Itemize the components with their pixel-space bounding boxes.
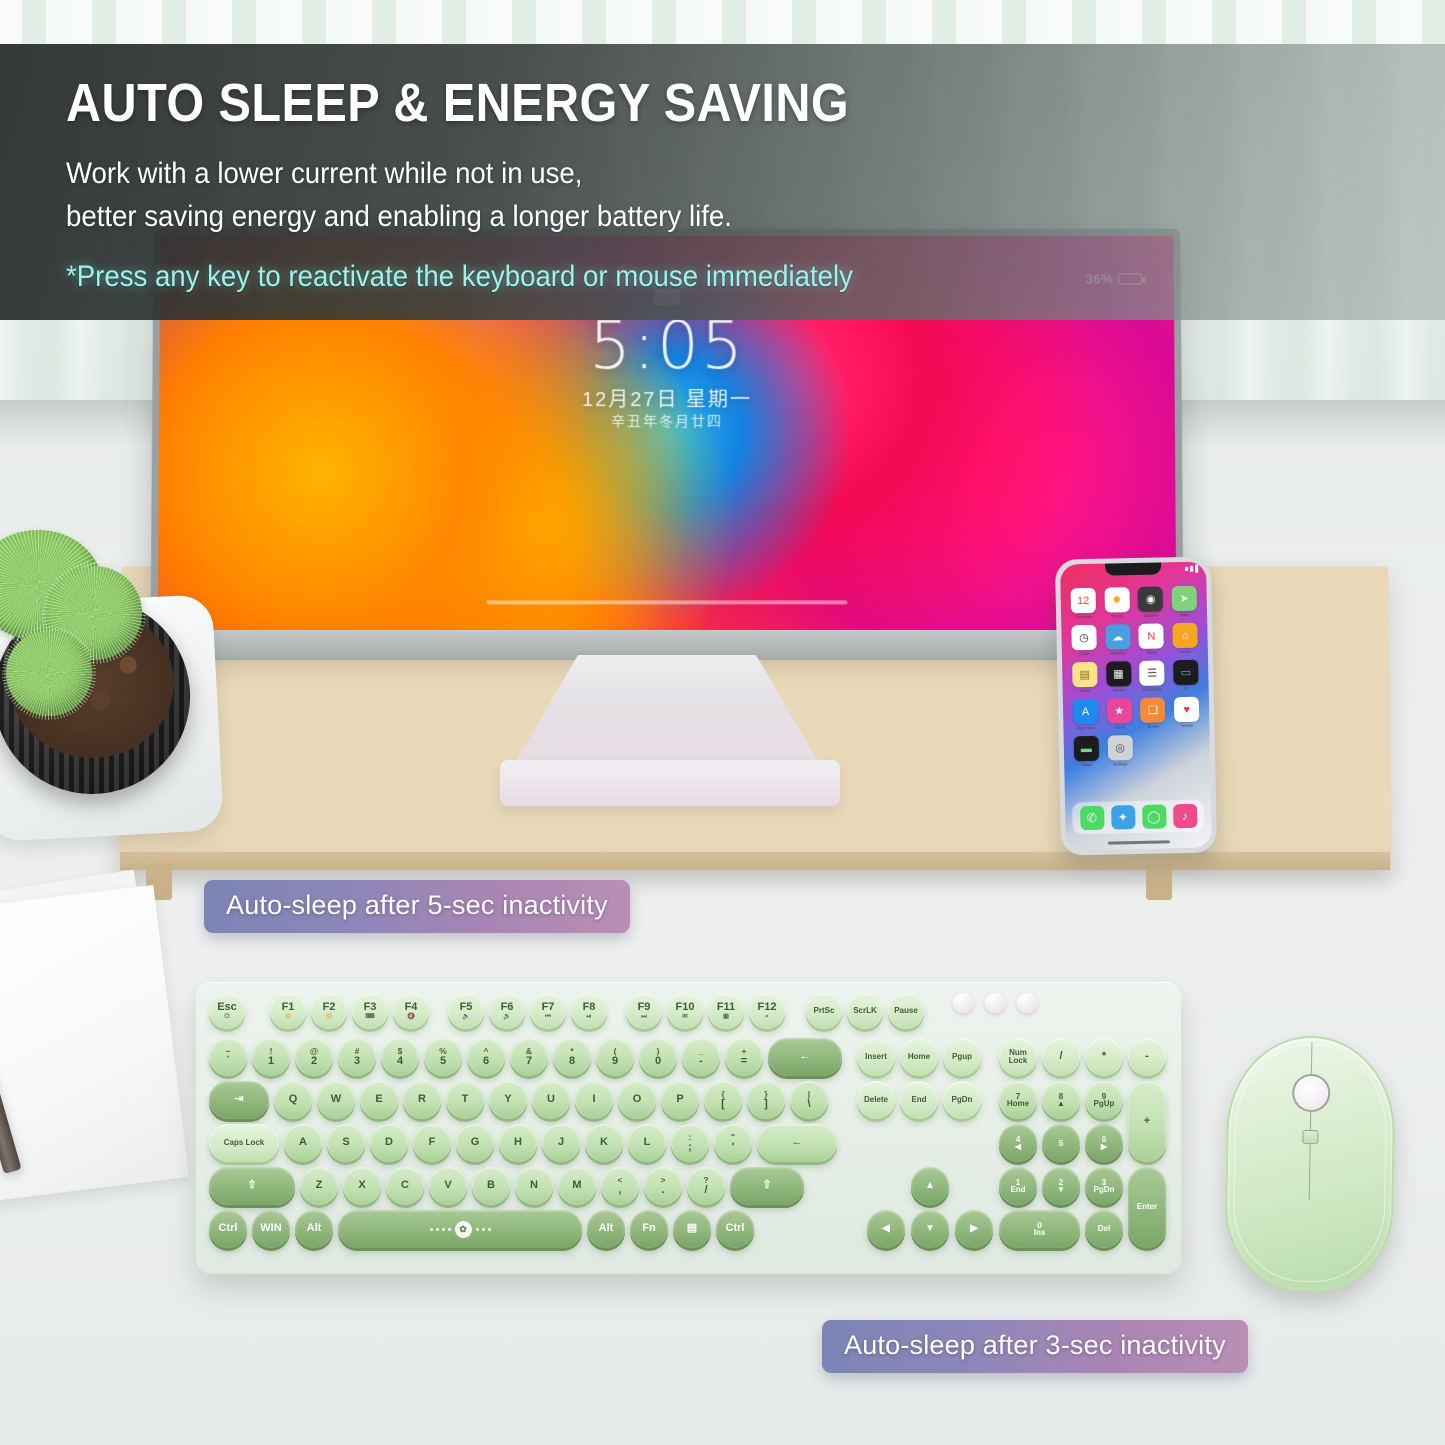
- cactus-ball-small: [6, 630, 92, 716]
- photos-icon[interactable]: ✹: [1104, 587, 1130, 613]
- phone-app-app-store[interactable]: AApp Store: [1072, 699, 1099, 731]
- key-f[interactable]: F: [413, 1124, 451, 1162]
- key-d[interactable]: D: [370, 1124, 408, 1162]
- brand-logo-icon: ✿: [455, 1221, 472, 1238]
- key-f7[interactable]: F7⏮: [530, 993, 566, 1029]
- app-store-icon[interactable]: A: [1073, 699, 1099, 725]
- page-title: AUTO SLEEP & ENERGY SAVING: [66, 72, 1307, 134]
- wallet-icon[interactable]: ▬: [1073, 736, 1099, 762]
- phone-app-itunes[interactable]: ★iTunes: [1106, 698, 1133, 730]
- key-pause[interactable]: Pause: [888, 993, 924, 1029]
- key-arrow-right[interactable]: ▶: [955, 1210, 993, 1248]
- monitor-stand-base: [500, 760, 840, 806]
- weather-icon[interactable]: ☁: [1105, 624, 1131, 650]
- key-x[interactable]: X: [343, 1167, 381, 1205]
- phone-app-calendar[interactable]: 12Calendar: [1070, 588, 1097, 620]
- calendar-icon[interactable]: 12: [1070, 588, 1096, 614]
- tv-icon[interactable]: ▭: [1173, 660, 1199, 686]
- key-f2[interactable]: F2🔆: [311, 993, 347, 1029]
- clock-icon[interactable]: ◷: [1071, 625, 1097, 651]
- key-num-lock[interactable]: Num Lock: [999, 1038, 1037, 1076]
- scroll-lock-led: [1017, 993, 1037, 1013]
- stocks-icon[interactable]: ▦: [1106, 661, 1132, 687]
- key-0[interactable]: )0: [639, 1038, 677, 1076]
- phone-app-tv[interactable]: ▭TV: [1172, 660, 1199, 692]
- key-a[interactable]: A: [284, 1124, 322, 1162]
- key-end[interactable]: End: [900, 1081, 938, 1119]
- riser-front-edge: [120, 852, 1390, 870]
- key-h[interactable]: H: [499, 1124, 537, 1162]
- key-sym[interactable]: /: [1042, 1038, 1080, 1076]
- key-sym[interactable]: 2▼: [1042, 1167, 1080, 1205]
- phone-app-photos[interactable]: ✹Photos: [1103, 587, 1130, 619]
- key-3[interactable]: #3: [338, 1038, 376, 1076]
- key-j[interactable]: J: [542, 1124, 580, 1162]
- key-6[interactable]: ^6: [467, 1038, 505, 1076]
- key-v[interactable]: V: [429, 1167, 467, 1205]
- phone-app-stocks[interactable]: ▦Stocks: [1105, 661, 1132, 693]
- keyboard-number-row[interactable]: ~`!1@2#3$4%5^6&7*8(9)0_-+=←: [209, 1038, 847, 1076]
- phone-app-home[interactable]: ⌂Home: [1172, 623, 1199, 655]
- key-2[interactable]: @2: [295, 1038, 333, 1076]
- books-icon[interactable]: ❏: [1140, 697, 1166, 723]
- key-w[interactable]: W: [317, 1081, 355, 1119]
- lockscreen-date: 12月27日 星期一: [159, 383, 1175, 412]
- key-home[interactable]: 7Home: [999, 1081, 1037, 1119]
- key-scrlk[interactable]: ScrLK: [847, 993, 883, 1029]
- key-alt[interactable]: Alt: [587, 1210, 625, 1248]
- key-f1[interactable]: F1🔅: [270, 993, 306, 1029]
- mouse-scroll-wheel[interactable]: [1292, 1074, 1331, 1113]
- phone-dock-phone-icon[interactable]: ✆: [1080, 806, 1104, 830]
- key-sym[interactable]: |\: [790, 1081, 828, 1119]
- phone-app-weather[interactable]: ☁Weather: [1104, 624, 1131, 656]
- key-esc[interactable]: Esc⏻: [209, 993, 245, 1029]
- key-pgup[interactable]: 9PgUp: [1085, 1081, 1123, 1119]
- num-lock-led: [953, 993, 973, 1013]
- mouse-lower-divider: [1309, 1144, 1311, 1200]
- product-marketing-image: 36% 5:05 12月27日 星期一 辛丑年冬月廿四 12Calendar✹P…: [0, 0, 1445, 1445]
- key-sym[interactable]: "': [714, 1124, 752, 1162]
- key-sym[interactable]: 8▲: [1042, 1081, 1080, 1119]
- key-u[interactable]: U: [532, 1081, 570, 1119]
- key-f8[interactable]: F8⏯: [571, 993, 607, 1029]
- key-n[interactable]: N: [515, 1167, 553, 1205]
- key-sym[interactable]: +: [1128, 1081, 1166, 1162]
- keyboard-home-row[interactable]: Caps LockASDFGHJKL:;"'←: [209, 1124, 842, 1162]
- key-t[interactable]: T: [446, 1081, 484, 1119]
- key-arrow-down[interactable]: ▼: [911, 1210, 949, 1248]
- key-5[interactable]: 5: [1042, 1124, 1080, 1162]
- news-icon[interactable]: N: [1139, 623, 1165, 649]
- key-f11[interactable]: F11▣: [708, 993, 744, 1029]
- phone-app-clock[interactable]: ◷Clock: [1070, 625, 1097, 657]
- mouse-dpi-button[interactable]: [1302, 1130, 1318, 1144]
- phone-app-wallet[interactable]: ▬Wallet: [1073, 736, 1100, 768]
- key-q[interactable]: Q: [274, 1081, 312, 1119]
- key--[interactable]: -: [1128, 1038, 1166, 1076]
- phone-home-indicator: [1108, 840, 1170, 844]
- key-space[interactable]: ✿: [338, 1210, 582, 1248]
- lockscreen-slider: [487, 600, 848, 604]
- riser-leg-right: [1146, 864, 1172, 900]
- headline-banner: AUTO SLEEP & ENERGY SAVING Work with a l…: [0, 44, 1445, 320]
- key-insert[interactable]: Insert: [857, 1038, 895, 1076]
- phone-app-news[interactable]: NNews: [1138, 623, 1165, 655]
- top-decor-strip: [0, 0, 1445, 44]
- key-f12[interactable]: F12⌕: [749, 993, 785, 1029]
- key-pgdn[interactable]: PgDn: [943, 1081, 981, 1119]
- key-9[interactable]: (9: [596, 1038, 634, 1076]
- keyboard-autosleep-badge: Auto-sleep after 5-sec inactivity: [204, 880, 630, 933]
- key-sym[interactable]: ~`: [209, 1038, 247, 1076]
- phone-notch: [1105, 562, 1161, 575]
- key-m[interactable]: M: [558, 1167, 596, 1205]
- key-f6[interactable]: F6🔊: [489, 993, 525, 1029]
- key-sym[interactable]: ▤: [673, 1210, 711, 1248]
- key-o[interactable]: O: [618, 1081, 656, 1119]
- key-k[interactable]: K: [585, 1124, 623, 1162]
- phone-dock: ✆✦◯♪: [1072, 800, 1205, 835]
- key-c[interactable]: C: [386, 1167, 424, 1205]
- reminders-icon[interactable]: ☰: [1139, 660, 1165, 686]
- key-sym[interactable]: +=: [725, 1038, 763, 1076]
- key-prtsc[interactable]: PrtSc: [806, 993, 842, 1029]
- key-sym[interactable]: }]: [747, 1081, 785, 1119]
- phone-app-notes[interactable]: ▤Notes: [1071, 662, 1098, 694]
- key-arrow-up[interactable]: ▲: [911, 1167, 949, 1205]
- key-s[interactable]: S: [327, 1124, 365, 1162]
- settings-icon[interactable]: ◎: [1107, 735, 1133, 761]
- key-ctrl[interactable]: Ctrl: [209, 1210, 247, 1248]
- health-icon[interactable]: ♥: [1174, 697, 1200, 723]
- phone-app-health[interactable]: ♥Health: [1173, 697, 1200, 729]
- keyboard-qwerty-row[interactable]: ⇥QWERTYUIOP{[}]|\: [209, 1081, 833, 1119]
- phone-app-maps[interactable]: ➤Maps: [1171, 586, 1198, 618]
- key-pgdn[interactable]: 3PgDn: [1085, 1167, 1123, 1205]
- phone-status-bar: [1185, 565, 1198, 573]
- key-sym[interactable]: :;: [671, 1124, 709, 1162]
- key-sym[interactable]: ⇧: [209, 1167, 295, 1205]
- key-sym[interactable]: ?/: [687, 1167, 725, 1205]
- key-p[interactable]: P: [661, 1081, 699, 1119]
- key-7[interactable]: &7: [510, 1038, 548, 1076]
- key-pgup[interactable]: Pgup: [943, 1038, 981, 1076]
- mouse-autosleep-badge: Auto-sleep after 3-sec inactivity: [822, 1320, 1248, 1373]
- key-f4[interactable]: F4🔇: [393, 993, 429, 1029]
- phone-app-books[interactable]: ❏Books: [1139, 697, 1166, 729]
- notes-icon[interactable]: ▤: [1072, 662, 1098, 688]
- key-b[interactable]: B: [472, 1167, 510, 1205]
- key-sym[interactable]: *: [1085, 1038, 1123, 1076]
- key-sym[interactable]: 4◀: [999, 1124, 1037, 1162]
- key-sym[interactable]: ⇧: [730, 1167, 804, 1205]
- wireless-keyboard[interactable]: Esc⏻F1🔅F2🔆F3⌨F4🔇F5🔉F6🔊F7⏮F8⏯F9⏭F10✉F11▣F…: [196, 982, 1181, 1274]
- key-arrow-left[interactable]: ◀: [867, 1210, 905, 1248]
- phone-app-settings[interactable]: ◎Settings: [1106, 735, 1133, 767]
- key-i[interactable]: I: [575, 1081, 613, 1119]
- key-4[interactable]: $4: [381, 1038, 419, 1076]
- key-f9[interactable]: F9⏭: [626, 993, 662, 1029]
- keyboard-nav-cluster-bottom[interactable]: DeleteEndPgDn: [857, 1081, 986, 1119]
- key-fn[interactable]: Fn: [630, 1210, 668, 1248]
- key-r[interactable]: R: [403, 1081, 441, 1119]
- phone-app-reminders[interactable]: ☰Reminders: [1139, 660, 1166, 692]
- key-caps-lock[interactable]: Caps Lock: [209, 1124, 279, 1162]
- subtitle-line-2: better saving energy and enabling a long…: [66, 197, 1335, 238]
- reactivate-note: *Press any key to reactivate the keyboar…: [66, 260, 1335, 294]
- lockscreen-lunar-date: 辛丑年冬月廿四: [159, 411, 1175, 431]
- key-alt[interactable]: Alt: [295, 1210, 333, 1248]
- key--[interactable]: _-: [682, 1038, 720, 1076]
- keyboard-shift-row[interactable]: ⇧ZXCVBNM<,>.?/⇧: [209, 1167, 809, 1205]
- key-e[interactable]: E: [360, 1081, 398, 1119]
- keyboard-numpad[interactable]: Num Lock/*-7Home8▲9PgUp+4◀56▶1End2▼3PgDn…: [999, 1038, 1179, 1258]
- maps-icon[interactable]: ➤: [1172, 586, 1198, 612]
- camera-icon[interactable]: ◉: [1138, 586, 1164, 612]
- key-sym[interactable]: ⇥: [209, 1081, 269, 1119]
- subtitle-line-1: Work with a lower current while not in u…: [66, 154, 1335, 195]
- key-z[interactable]: Z: [300, 1167, 338, 1205]
- keyboard-arrow-cluster[interactable]: ▲◀▼▶: [867, 1167, 999, 1255]
- phone-dock-messages-icon[interactable]: ◯: [1142, 804, 1166, 828]
- key-y[interactable]: Y: [489, 1081, 527, 1119]
- key-end[interactable]: 1End: [999, 1167, 1037, 1205]
- key-sym[interactable]: 6▶: [1085, 1124, 1123, 1162]
- phone-app-grid: 12Calendar✹Photos◉Camera➤Maps◷Clock☁Weat…: [1070, 586, 1202, 768]
- key-sym[interactable]: >.: [644, 1167, 682, 1205]
- key-del[interactable]: Del: [1085, 1210, 1123, 1248]
- key-5[interactable]: %5: [424, 1038, 462, 1076]
- key-win[interactable]: WIN: [252, 1210, 290, 1248]
- itunes-icon[interactable]: ★: [1106, 698, 1132, 724]
- phone-screen: 12Calendar✹Photos◉Camera➤Maps◷Clock☁Weat…: [1060, 562, 1212, 851]
- smartphone: 12Calendar✹Photos◉Camera➤Maps◷Clock☁Weat…: [1055, 556, 1217, 855]
- key-ins[interactable]: 0Ins: [999, 1210, 1080, 1248]
- key-sym[interactable]: <,: [601, 1167, 639, 1205]
- key-g[interactable]: G: [456, 1124, 494, 1162]
- home-icon[interactable]: ⌂: [1172, 623, 1198, 649]
- key-enter[interactable]: Enter: [1128, 1167, 1166, 1248]
- phone-app-camera[interactable]: ◉Camera: [1137, 586, 1164, 618]
- key-f5[interactable]: F5🔉: [448, 993, 484, 1029]
- key-f10[interactable]: F10✉: [667, 993, 703, 1029]
- key-8[interactable]: *8: [553, 1038, 591, 1076]
- caps-lock-led: [985, 993, 1005, 1013]
- key-l[interactable]: L: [628, 1124, 666, 1162]
- keyboard-bottom-row[interactable]: CtrlWINAlt✿AltFn▤Ctrl: [209, 1210, 759, 1248]
- key-sym[interactable]: ←: [768, 1038, 842, 1076]
- key-delete[interactable]: Delete: [857, 1081, 895, 1119]
- wireless-mouse[interactable]: [1224, 1035, 1396, 1294]
- key-f3[interactable]: F3⌨: [352, 993, 388, 1029]
- keyboard-nav-cluster-top[interactable]: InsertHomePgup: [857, 1038, 986, 1076]
- key-home[interactable]: Home: [900, 1038, 938, 1076]
- key-ctrl[interactable]: Ctrl: [716, 1210, 754, 1248]
- key-sym[interactable]: ←: [757, 1124, 837, 1162]
- phone-dock-music-icon[interactable]: ♪: [1173, 804, 1197, 828]
- key-1[interactable]: !1: [252, 1038, 290, 1076]
- key-sym[interactable]: {[: [704, 1081, 742, 1119]
- phone-dock-safari-icon[interactable]: ✦: [1111, 805, 1135, 829]
- keyboard-function-row[interactable]: Esc⏻F1🔅F2🔆F3⌨F4🔇F5🔉F6🔊F7⏮F8⏯F9⏭F10✉F11▣F…: [209, 993, 1049, 1029]
